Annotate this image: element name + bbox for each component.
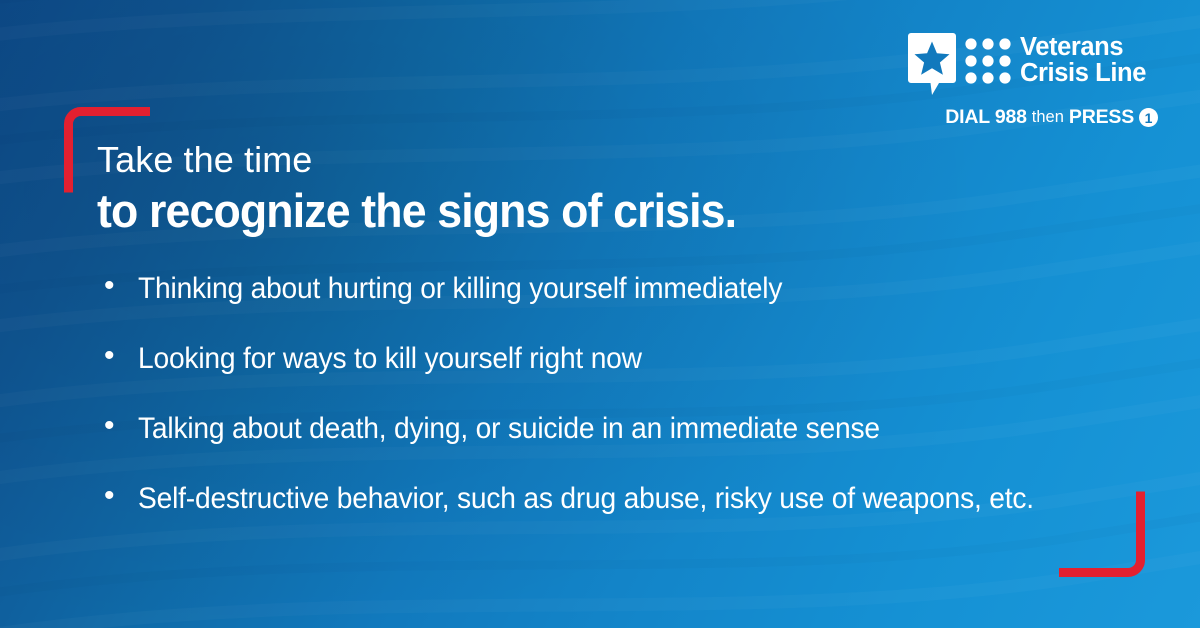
logo-top-row: Veterans Crisis Line — [908, 33, 1158, 100]
list-item: • Self-destructive behavior, such as dru… — [104, 482, 1164, 552]
list-item-label: Thinking about hurting or killing yourse… — [138, 272, 1118, 306]
headline-eyebrow: Take the time — [97, 138, 1097, 182]
headline-main: to recognize the signs of crisis. — [97, 183, 1047, 239]
list-item-label: Looking for ways to kill yourself right … — [138, 342, 1118, 376]
warning-signs-list: • Thinking about hurting or killing your… — [104, 272, 1164, 552]
logo-wordmark: Veterans Crisis Line — [1020, 33, 1146, 86]
list-item-label: Self-destructive behavior, such as drug … — [138, 482, 1118, 516]
logo-wordmark-line-2: Crisis Line — [1020, 60, 1146, 86]
list-item: • Thinking about hurting or killing your… — [104, 272, 1164, 342]
tagline-press-word: PRESS — [1069, 106, 1134, 129]
bullet-marker-icon: • — [104, 341, 138, 371]
bullet-marker-icon: • — [104, 411, 138, 441]
dot-grid-icon — [965, 33, 1011, 91]
list-item: • Talking about death, dying, or suicide… — [104, 412, 1164, 482]
bullet-marker-icon: • — [104, 271, 138, 301]
poster-canvas: Veterans Crisis Line DIAL 988 then PRESS… — [0, 0, 1200, 628]
logo-wordmark-line-1: Veterans — [1020, 34, 1146, 60]
logo-tagline: DIAL 988 then PRESS 1 — [908, 106, 1158, 129]
veterans-crisis-line-logo: Veterans Crisis Line DIAL 988 then PRESS… — [908, 33, 1158, 129]
list-item-label: Talking about death, dying, or suicide i… — [138, 412, 1118, 446]
headline-block: Take the time to recognize the signs of … — [97, 138, 1097, 239]
list-item: • Looking for ways to kill yourself righ… — [104, 342, 1164, 412]
speech-bubble-star-icon — [908, 33, 956, 100]
tagline-press-one-icon: 1 — [1139, 108, 1158, 127]
tagline-then-word: then — [1032, 108, 1064, 127]
bullet-marker-icon: • — [104, 481, 138, 511]
tagline-dial-number: DIAL 988 — [945, 106, 1027, 129]
